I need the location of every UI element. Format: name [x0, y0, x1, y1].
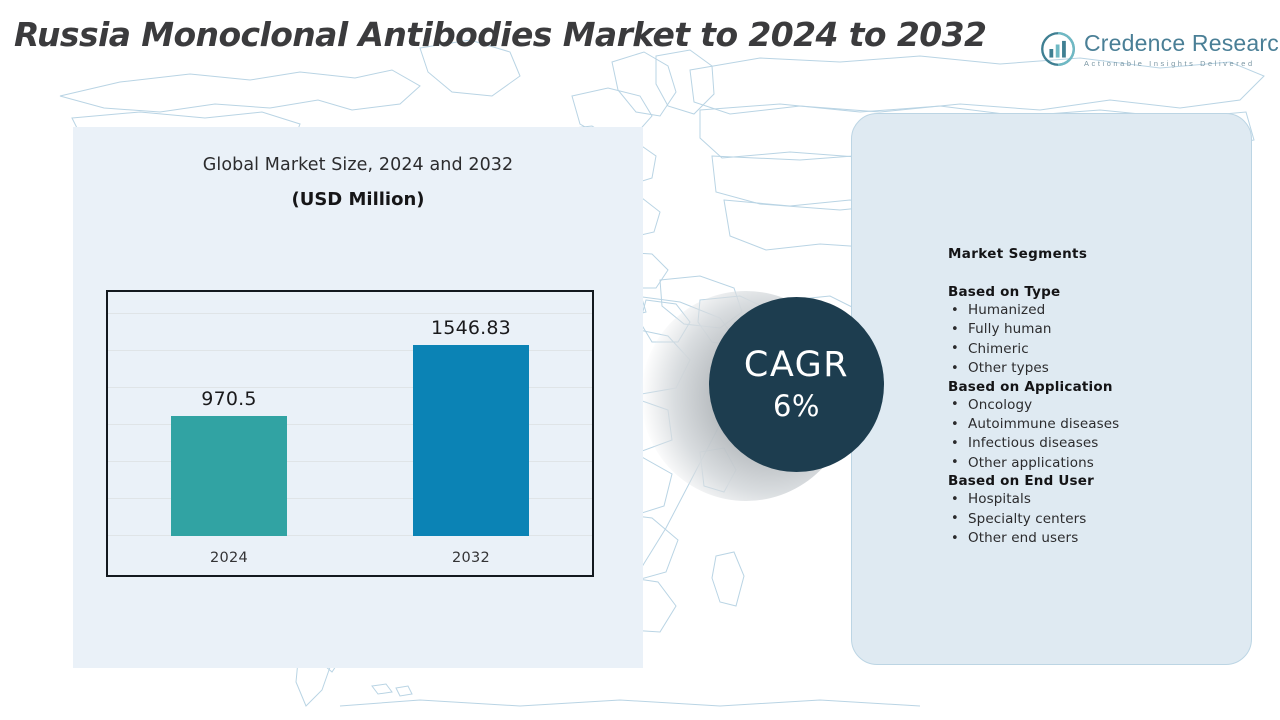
cagr-badge: CAGR 6%: [641, 291, 891, 506]
market-segments-title: Market Segments: [948, 246, 1248, 262]
logo-tagline: Actionable Insights Delivered: [1084, 59, 1280, 68]
segment-item: Autoimmune diseases: [948, 415, 1248, 434]
segment-item: Other applications: [948, 454, 1248, 473]
category-label-2024: 2024: [149, 550, 309, 566]
segment-item: Infectious diseases: [948, 434, 1248, 453]
logo-name: Credence Research: [1084, 32, 1280, 55]
segment-list: HumanizedFully humanChimericOther types: [948, 301, 1248, 379]
cagr-circle: CAGR 6%: [709, 297, 884, 472]
segment-list: HospitalsSpecialty centersOther end user…: [948, 490, 1248, 548]
market-segments-panel: Market Segments Based on TypeHumanizedFu…: [851, 113, 1252, 665]
credence-research-logo: Credence Research Actionable Insights De…: [1040, 25, 1255, 73]
segment-list: OncologyAutoimmune diseasesInfectious di…: [948, 396, 1248, 474]
segment-item: Hospitals: [948, 490, 1248, 509]
gridline: [108, 313, 592, 314]
segment-item: Oncology: [948, 396, 1248, 415]
chart-title: Global Market Size, 2024 and 2032: [73, 155, 643, 175]
bar-value-label: 1546.83: [381, 317, 561, 339]
bar-2032: [413, 345, 529, 536]
cagr-label: CAGR: [744, 348, 849, 383]
segment-item: Chimeric: [948, 340, 1248, 359]
bar-value-label: 970.5: [139, 388, 319, 410]
segment-item: Fully human: [948, 320, 1248, 339]
market-size-chart-panel: Global Market Size, 2024 and 2032 (USD M…: [73, 127, 643, 668]
category-label-2032: 2032: [391, 550, 551, 566]
page-title: Russia Monoclonal Antibodies Market to 2…: [14, 14, 1014, 56]
chart-unit-label: (USD Million): [73, 189, 643, 210]
cagr-value: 6%: [773, 392, 820, 421]
bar-chart-circle-icon: [1040, 31, 1076, 67]
segment-group-heading: Based on Application: [948, 379, 1248, 395]
segment-groups: Based on TypeHumanizedFully humanChimeri…: [948, 284, 1248, 548]
segment-item: Humanized: [948, 301, 1248, 320]
segment-item: Specialty centers: [948, 510, 1248, 529]
segment-item: Other end users: [948, 529, 1248, 548]
header: Russia Monoclonal Antibodies Market to 2…: [0, 0, 1280, 112]
bar-chart: 970.520241546.832032: [106, 290, 594, 577]
segment-group-heading: Based on End User: [948, 473, 1248, 489]
market-segments: Market Segments Based on TypeHumanizedFu…: [948, 246, 1248, 548]
segment-group-heading: Based on Type: [948, 284, 1248, 300]
segment-item: Other types: [948, 359, 1248, 378]
bar-2024: [171, 416, 287, 536]
